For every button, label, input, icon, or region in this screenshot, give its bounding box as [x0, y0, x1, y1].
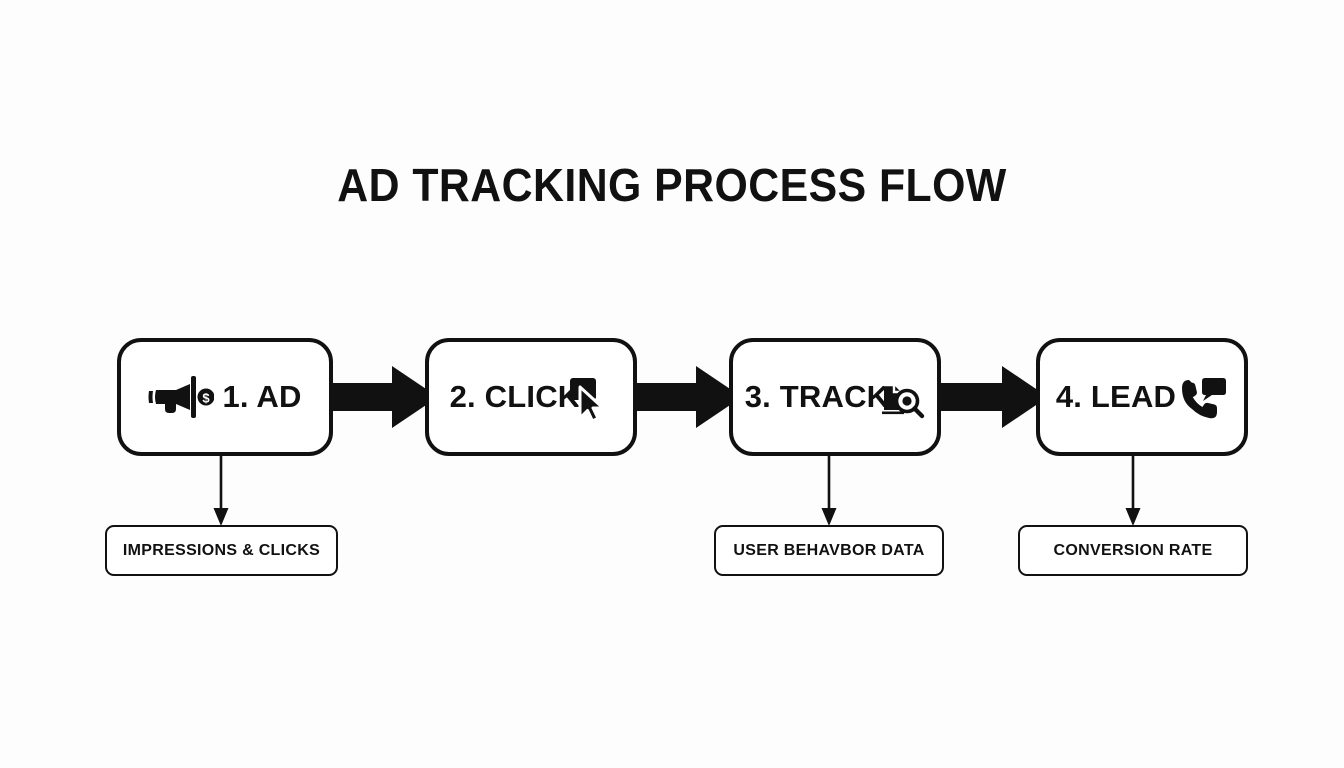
- metric-label-conversion-rate: CONVERSION RATE: [1054, 542, 1213, 560]
- flow-arrow-click-to-track: [626, 366, 742, 428]
- flow-arrow-track-to-lead: [930, 366, 1048, 428]
- metric-label-impressions: IMPRESSIONS & CLICKS: [123, 542, 320, 560]
- metric-box-conversion-rate[interactable]: CONVERSION RATE: [1018, 525, 1248, 576]
- page-title: AD TRACKING PROCESS FLOW: [47, 158, 1297, 212]
- stage-label-ad: 1. AD: [222, 379, 301, 415]
- cursor-pointer-icon: [570, 378, 612, 422]
- stage-box-lead[interactable]: 4. LEAD: [1036, 338, 1248, 456]
- stage-ad-content: $ 1. AD: [148, 376, 301, 418]
- megaphone-money-icon: $: [148, 376, 214, 418]
- drop-arrow-track-to-behavior: [817, 456, 841, 526]
- phone-chat-icon: [1182, 375, 1228, 419]
- flow-arrow-ad-to-click: [320, 366, 438, 428]
- stage-click-content: 2. CLICK: [450, 372, 613, 422]
- stage-box-track[interactable]: 3. TRACK: [729, 338, 941, 456]
- stage-label-lead: 4. LEAD: [1056, 379, 1176, 415]
- magnifier-analytics-icon: [881, 376, 925, 420]
- metric-box-user-behavior[interactable]: USER BEHAVBOR DATA: [714, 525, 944, 576]
- stage-track-content: 3. TRACK: [745, 374, 926, 420]
- diagram-canvas: AD TRACKING PROCESS FLOW: [0, 0, 1344, 768]
- drop-arrow-ad-to-impressions: [209, 456, 233, 526]
- stage-label-track: 3. TRACK: [745, 379, 890, 415]
- stage-label-click: 2. CLICK: [450, 379, 581, 415]
- svg-text:$: $: [203, 391, 211, 406]
- stage-box-click[interactable]: 2. CLICK: [425, 338, 637, 456]
- stage-box-ad[interactable]: $ 1. AD: [117, 338, 333, 456]
- metric-box-impressions[interactable]: IMPRESSIONS & CLICKS: [105, 525, 338, 576]
- stage-lead-content: 4. LEAD: [1056, 375, 1228, 419]
- drop-arrow-lead-to-conversion: [1121, 456, 1145, 526]
- metric-label-user-behavior: USER BEHAVBOR DATA: [733, 542, 924, 560]
